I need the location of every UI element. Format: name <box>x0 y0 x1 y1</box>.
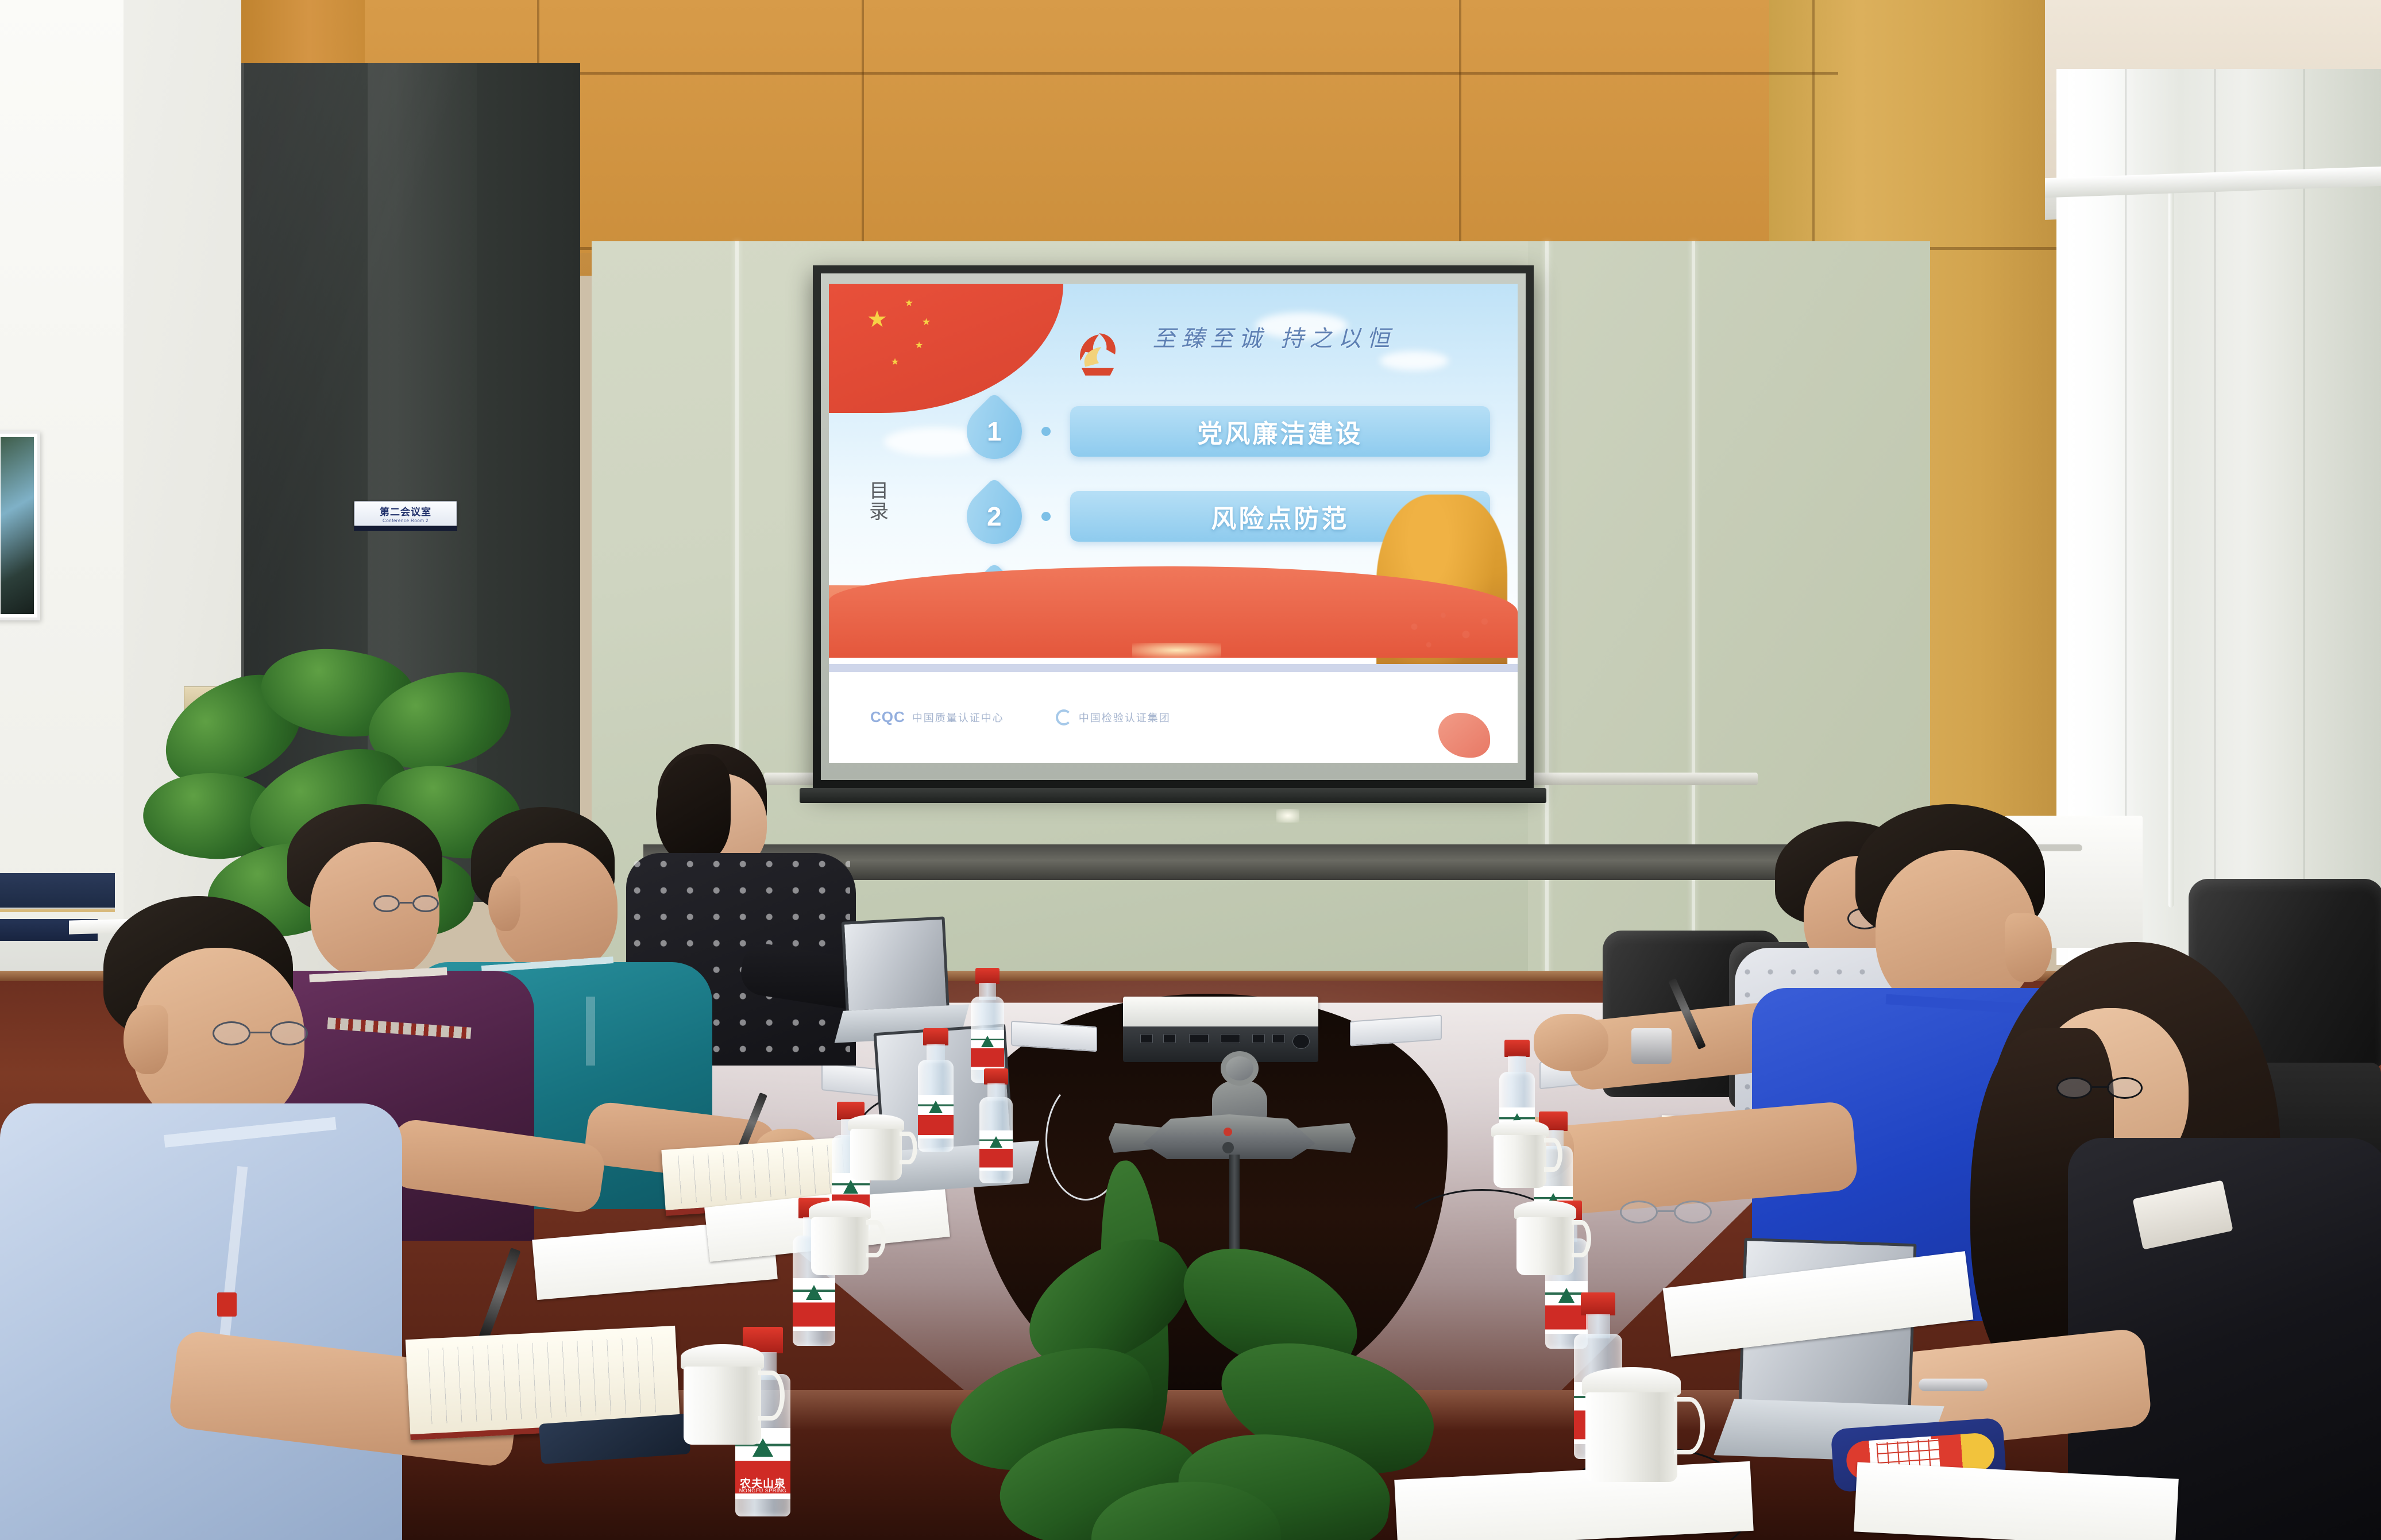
eyeglass-bridge <box>1658 1210 1674 1212</box>
agenda-item: 1 党风廉洁建设 <box>967 404 1490 459</box>
agenda-label: 党风廉洁建设 <box>1197 413 1363 450</box>
bottle-cap <box>975 968 1000 984</box>
room-sign-base <box>354 526 457 531</box>
av-connection-box <box>1123 997 1318 1026</box>
tea-mug[interactable] <box>811 1201 869 1275</box>
flag-star: ★ <box>905 298 913 308</box>
person-black-top <box>1947 942 2381 1540</box>
mug-cup <box>1585 1392 1677 1482</box>
agenda-label: 风险点防范 <box>1211 498 1349 535</box>
framed-picture-image <box>1 437 34 614</box>
mug-handle <box>1674 1397 1705 1454</box>
mug-cup <box>811 1217 869 1275</box>
flag-star: ★ <box>915 341 923 350</box>
ccic-ring-icon <box>1056 709 1072 725</box>
water-bottle[interactable] <box>971 968 1004 1083</box>
blind-pull-cord[interactable] <box>2168 190 2174 908</box>
room-sign: 第二会议室 Conference Room 2 <box>354 501 457 526</box>
room-sign-cn: 第二会议室 <box>380 504 431 518</box>
ear <box>124 1005 168 1074</box>
av-port[interactable] <box>1140 1034 1153 1043</box>
agenda-number: 2 <box>987 501 1002 532</box>
mug-cup <box>684 1367 761 1445</box>
conference-room-photo: 第二会议室 Conference Room 2 ★ ★ ★ ★ ★ <box>0 0 2381 1540</box>
av-port-round[interactable] <box>1292 1034 1310 1049</box>
wristwatch <box>1631 1028 1672 1064</box>
mug-cup <box>850 1129 902 1180</box>
tea-mug[interactable] <box>1494 1120 1546 1188</box>
lapel-pin <box>217 1292 237 1317</box>
eyeglasses <box>213 1021 310 1049</box>
slide-cloud <box>1380 351 1449 370</box>
glass-partition-seam <box>1692 241 1695 1011</box>
eyeglass-lens <box>270 1021 308 1045</box>
room-sign-en: Conference Room 2 <box>383 518 429 523</box>
wood-seam <box>862 0 864 276</box>
framed-picture <box>0 431 40 620</box>
projection-screen: ★ ★ ★ ★ ★ 至臻至诚 持之以恒 目录 1 <box>813 265 1534 788</box>
tea-mug-front[interactable] <box>1585 1367 1677 1482</box>
mug-cup <box>1516 1217 1574 1275</box>
mug-handle <box>900 1132 917 1165</box>
flag-star: ★ <box>922 317 931 327</box>
speakerphone-status-led <box>1224 1128 1232 1136</box>
eyeglass-bridge <box>2092 1086 2109 1088</box>
av-port-vga[interactable] <box>1221 1034 1240 1043</box>
bracelet <box>1919 1379 1988 1391</box>
party-emblem-icon <box>1067 312 1129 394</box>
eyeglass-lens <box>1674 1201 1712 1223</box>
hand-writing <box>1534 1014 1608 1071</box>
mug-cup <box>1494 1135 1546 1188</box>
laptop-screen <box>842 916 950 1013</box>
eyeglass-lens <box>213 1021 250 1045</box>
av-port-panel <box>1123 1026 1318 1062</box>
mug-handle <box>1572 1220 1591 1257</box>
bottle-brand-en: NONGFU SPRING <box>738 1488 788 1493</box>
av-port[interactable] <box>1272 1034 1285 1043</box>
agenda-dot <box>1041 427 1051 436</box>
notebook-lines <box>678 1144 847 1203</box>
agenda-number: 1 <box>987 416 1002 447</box>
eyeglass-bridge <box>250 1032 270 1033</box>
china-map-icon <box>1438 713 1490 758</box>
av-port-vga[interactable] <box>1189 1034 1209 1043</box>
slide-sun-glow <box>1132 643 1222 658</box>
mug-handle <box>866 1220 886 1257</box>
blind-slat <box>2303 69 2305 965</box>
logo-cqc: CQC 中国质量认证中心 <box>870 708 1004 726</box>
eyeglass-lens <box>2056 1077 2092 1099</box>
eyeglasses-on-table[interactable] <box>1620 1201 1712 1226</box>
eyeglasses <box>2056 1077 2143 1102</box>
agenda-pill: 党风廉洁建设 <box>1070 406 1490 457</box>
bottle-cap <box>923 1028 948 1045</box>
agenda-number-badge: 1 <box>955 392 1033 470</box>
tea-mug[interactable] <box>1516 1201 1574 1275</box>
blind-slat <box>2214 69 2216 965</box>
decorative-dots <box>1394 606 1497 658</box>
slide-divider-band <box>829 664 1518 672</box>
agenda-dot <box>1041 512 1051 521</box>
laptop-back-left[interactable] <box>842 916 951 1042</box>
water-bottle[interactable] <box>918 1028 954 1152</box>
glass-partition-seam <box>1545 241 1549 999</box>
logo-ccic: 中国检验认证集团 <box>1056 709 1171 725</box>
tea-mug[interactable] <box>850 1114 902 1180</box>
cqc-mark: CQC <box>870 708 905 726</box>
bottle-cap <box>1581 1292 1615 1315</box>
eyeglass-lens <box>1620 1201 1658 1223</box>
notebook-lines <box>427 1336 658 1423</box>
speakerphone-button[interactable] <box>1222 1142 1234 1153</box>
presentation-slide: ★ ★ ★ ★ ★ 至臻至诚 持之以恒 目录 1 <box>829 284 1518 763</box>
flag-star: ★ <box>867 308 887 331</box>
bottle-cap <box>984 1068 1008 1084</box>
slide-footer: CQC 中国质量认证中心 中国检验认证集团 <box>829 672 1518 763</box>
polo-placket <box>586 997 595 1066</box>
tea-mug[interactable] <box>684 1344 761 1445</box>
ceiling-light-reflection <box>1276 809 1299 823</box>
screen-mat: ★ ★ ★ ★ ★ 至臻至诚 持之以恒 目录 1 <box>821 273 1526 780</box>
wood-seam <box>1459 0 1461 276</box>
potted-plant-front <box>931 1183 1494 1540</box>
mug-handle <box>1544 1138 1562 1172</box>
video-conference-camera-lens <box>1221 1051 1259 1086</box>
person-light-blue-shirt <box>69 896 586 1540</box>
ccic-name: 中国检验认证集团 <box>1079 710 1171 725</box>
agenda-number-badge: 2 <box>955 477 1033 555</box>
eyeglass-lens <box>2107 1077 2143 1099</box>
mug-handle <box>758 1371 785 1421</box>
screen-bottom-bar <box>800 788 1546 803</box>
av-port[interactable] <box>1163 1034 1176 1043</box>
cqc-name: 中国质量认证中心 <box>912 710 1004 725</box>
av-port[interactable] <box>1252 1034 1265 1043</box>
flag-star: ★ <box>891 358 899 367</box>
bottle-cap <box>1504 1040 1530 1057</box>
slide-calligraphy: 至臻至诚 持之以恒 <box>1153 320 1396 353</box>
slide-section-label: 目录 <box>867 480 887 522</box>
water-bottle[interactable] <box>979 1068 1013 1183</box>
